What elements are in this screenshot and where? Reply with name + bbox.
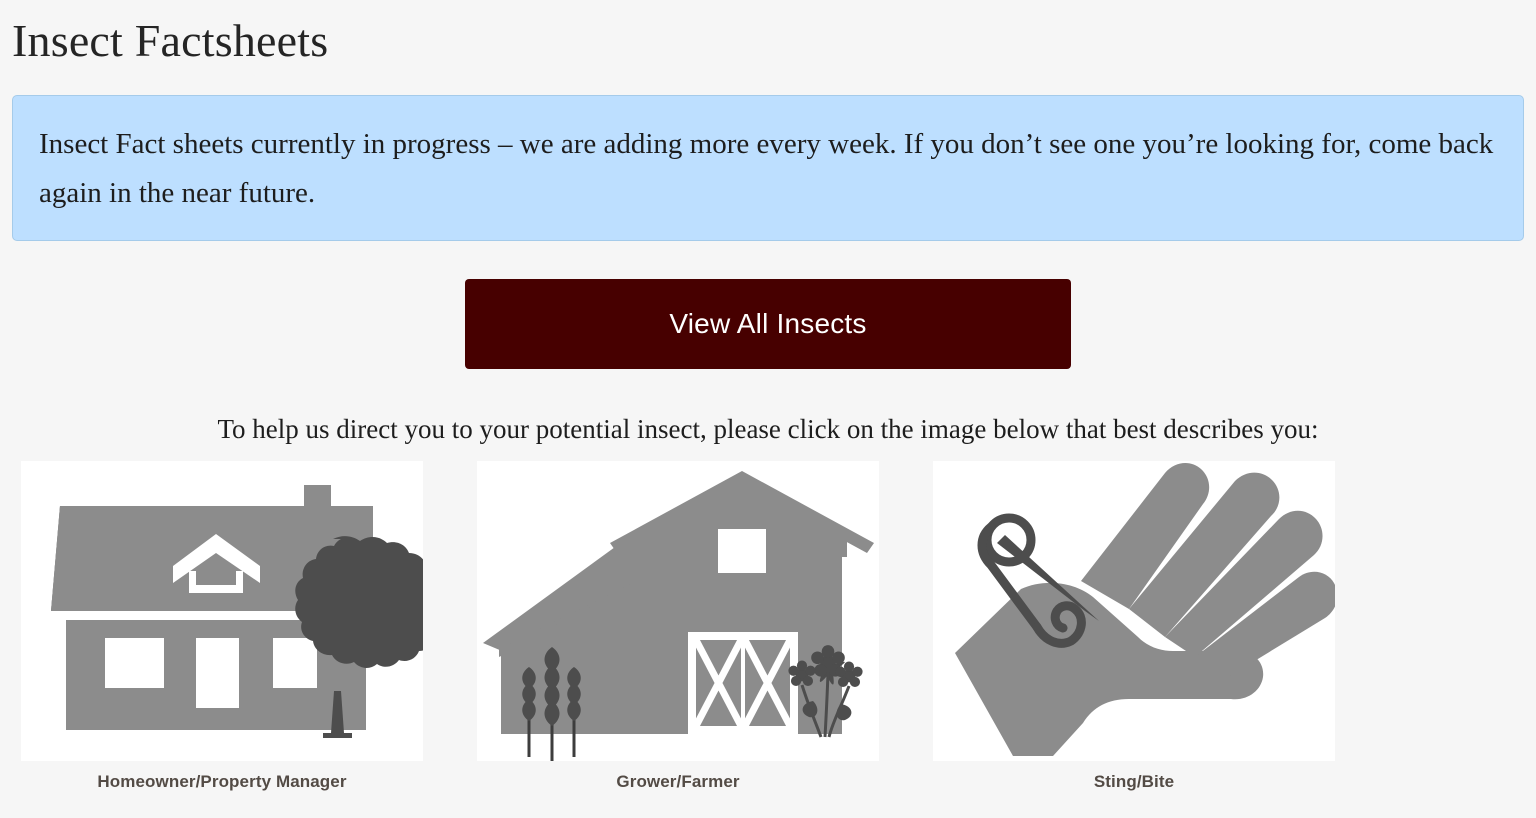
alert-message: Insect Fact sheets currently in progress… — [39, 120, 1497, 219]
category-cards-row: Homeowner/Property Manager — [21, 461, 1335, 792]
category-card-caption: Sting/Bite — [933, 761, 1335, 792]
category-card-caption: Grower/Farmer — [477, 761, 879, 792]
view-all-insects-button[interactable]: View All Insects — [465, 279, 1071, 369]
category-card-sting-bite[interactable]: Sting/Bite — [933, 461, 1335, 792]
barn-with-wheat-icon — [477, 461, 879, 761]
house-with-tree-icon — [21, 461, 423, 761]
info-alert: Insect Fact sheets currently in progress… — [12, 95, 1524, 241]
cta-container: View All Insects — [0, 279, 1536, 369]
instruction-text: To help us direct you to your potential … — [0, 411, 1536, 449]
category-card-homeowner[interactable]: Homeowner/Property Manager — [21, 461, 423, 792]
page-title: Insect Factsheets — [0, 0, 1536, 68]
category-card-grower[interactable]: Grower/Farmer — [477, 461, 879, 792]
hand-with-safety-pin-icon — [933, 461, 1335, 761]
category-card-caption: Homeowner/Property Manager — [21, 761, 423, 792]
